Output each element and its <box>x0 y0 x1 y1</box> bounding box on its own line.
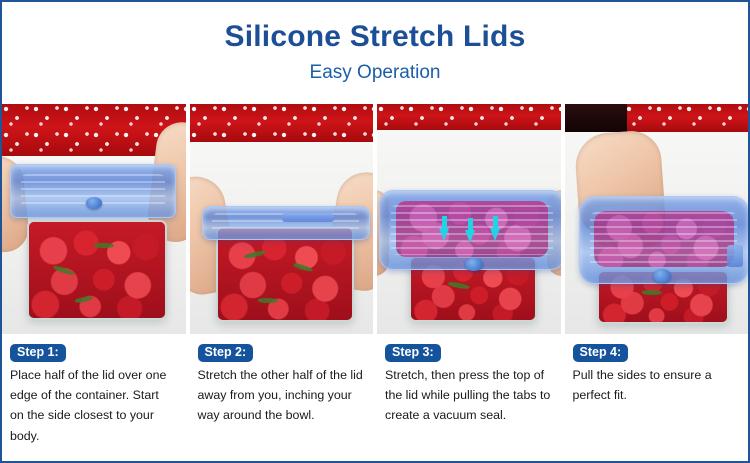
lid-tab <box>282 213 334 222</box>
cherry-tomatoes <box>29 222 165 318</box>
tomato-stem <box>258 298 278 303</box>
arrow-head <box>439 228 449 241</box>
tomato-stem <box>642 290 662 295</box>
apron-background <box>377 104 561 130</box>
step-badge-1: Step 1: <box>10 344 66 362</box>
lid-ribs <box>590 212 738 267</box>
step-badge-2: Step 2: <box>198 344 254 362</box>
step-text-2: Stretch the other half of the lid away f… <box>198 365 364 425</box>
press-down-arrow <box>465 218 476 243</box>
arrow-head <box>490 228 500 241</box>
lid-knob <box>465 258 483 271</box>
panel-step-1 <box>2 104 186 334</box>
caption-step-4: Step 4: Pull the sides to ensure a perfe… <box>565 334 749 446</box>
panel-step-2 <box>190 104 374 334</box>
infographic-page: Silicone Stretch Lids Easy Operation <box>0 0 750 463</box>
apron-shadow <box>565 104 627 132</box>
silicone-lid <box>579 196 749 284</box>
silicone-lid <box>202 206 370 240</box>
caption-step-2: Step 2: Stretch the other half of the li… <box>190 334 374 446</box>
header: Silicone Stretch Lids Easy Operation <box>2 2 748 104</box>
lid-tab <box>727 245 743 267</box>
caption-step-1: Step 1: Place half of the lid over one e… <box>2 334 186 446</box>
glass-container <box>27 220 167 320</box>
glass-container <box>216 226 354 322</box>
apron-background <box>190 104 374 142</box>
lid-knob <box>653 269 671 283</box>
cherry-tomatoes <box>218 228 352 320</box>
step-image-strip <box>2 104 748 334</box>
press-down-arrow <box>490 216 501 241</box>
page-subtitle: Easy Operation <box>2 62 748 83</box>
caption-step-3: Step 3: Stretch, then press the top of t… <box>377 334 561 446</box>
step-text-1: Place half of the lid over one edge of t… <box>10 365 176 445</box>
step-badge-3: Step 3: <box>385 344 441 362</box>
step-text-4: Pull the sides to ensure a perfect fit. <box>573 365 739 405</box>
step-captions: Step 1: Place half of the lid over one e… <box>2 334 748 446</box>
step-badge-4: Step 4: <box>573 344 629 362</box>
press-down-arrow <box>439 216 450 241</box>
page-title: Silicone Stretch Lids <box>2 20 748 54</box>
panel-step-4 <box>565 104 749 334</box>
silicone-lid <box>10 164 176 218</box>
step-text-3: Stretch, then press the top of the lid w… <box>385 365 551 425</box>
arrow-head <box>465 230 475 243</box>
panel-step-3 <box>377 104 561 334</box>
